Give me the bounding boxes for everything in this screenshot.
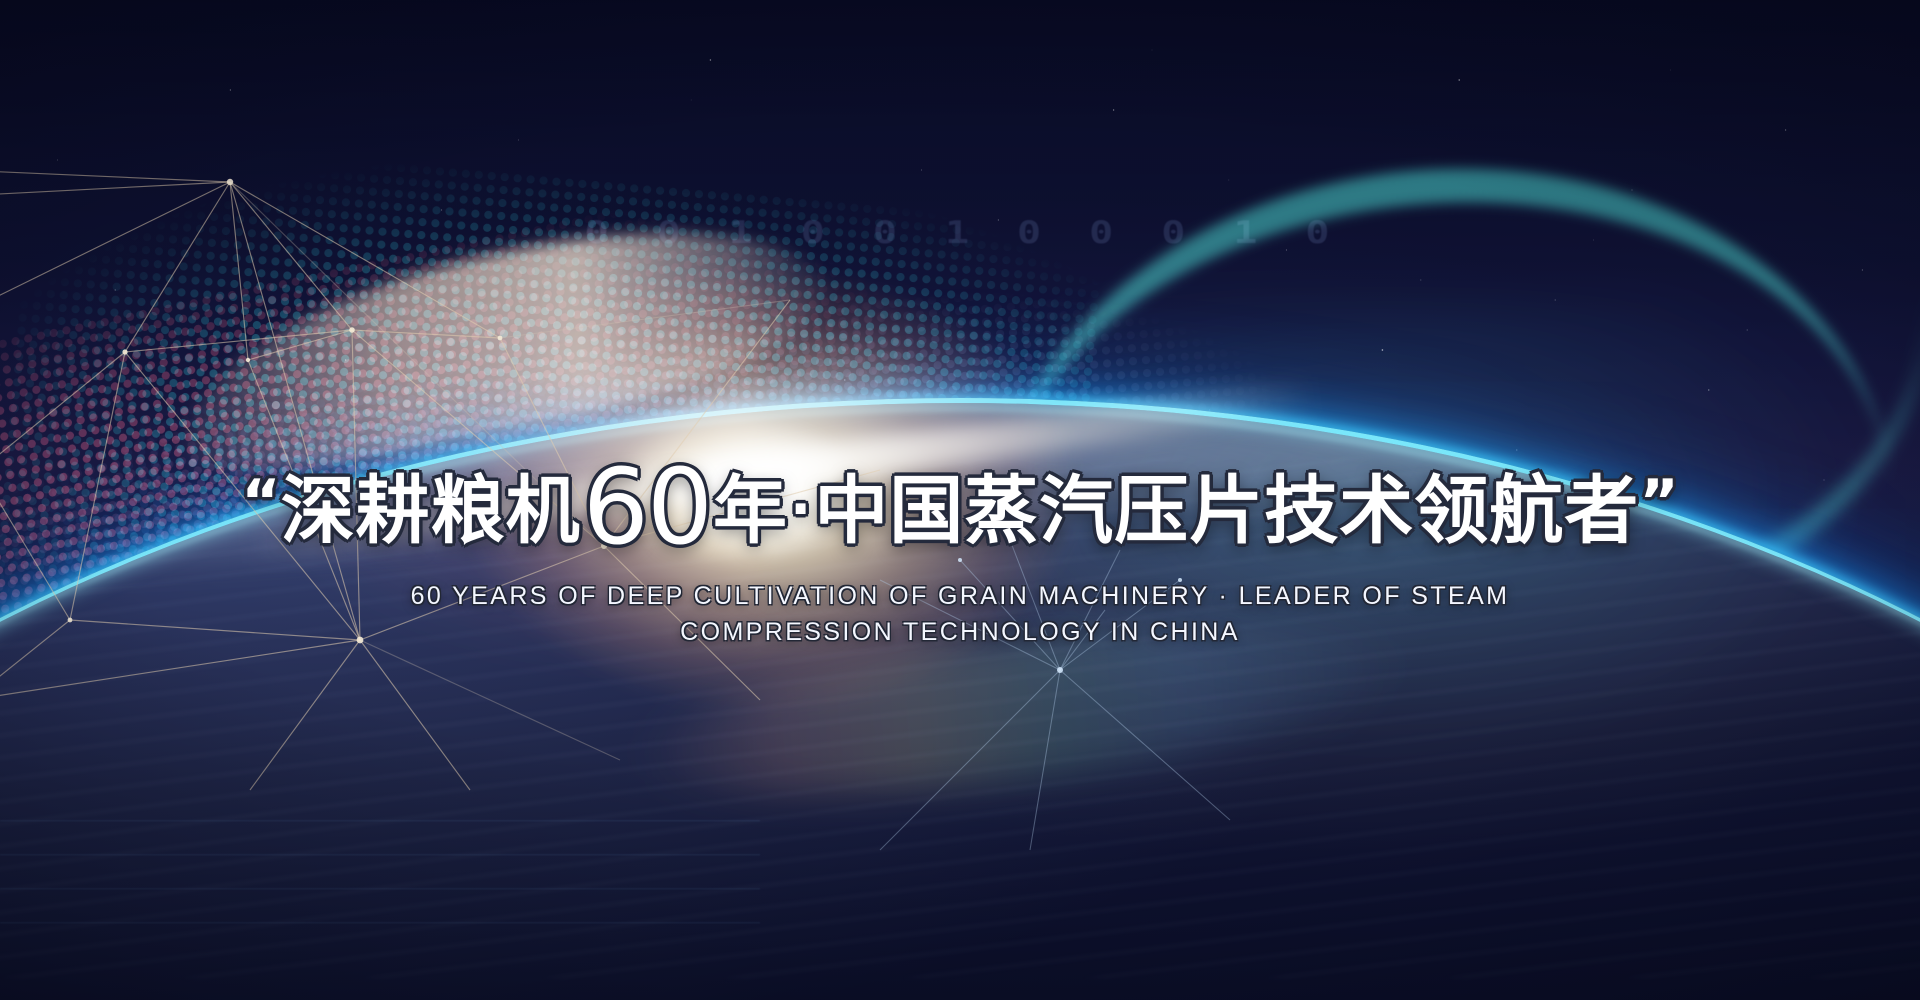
banner-copy-block: “深耕粮机60年·中国蒸汽压片技术领航者” 60 YEARS OF DEEP C…: [0, 455, 1920, 650]
hero-banner: 0 0 1 0 0 1 0 0 0 1 0: [0, 0, 1920, 1000]
open-quote: “: [241, 467, 280, 537]
subtitle-line-2: COMPRESSION TECHNOLOGY IN CHINA: [0, 615, 1920, 651]
close-quote: ”: [1639, 467, 1678, 537]
banner-headline: “深耕粮机60年·中国蒸汽压片技术领航者”: [0, 455, 1920, 559]
headline-part-3: 中国蒸汽压片技术领航者: [814, 468, 1639, 554]
banner-subtitle: 60 YEARS OF DEEP CULTIVATION OF GRAIN MA…: [0, 579, 1920, 650]
headline-part-2: 年: [713, 468, 788, 554]
headline-part-1: 深耕粮机: [281, 468, 581, 554]
headline-number-60: 60: [583, 446, 711, 568]
headline-separator: ·: [790, 477, 812, 542]
subtitle-line-1: 60 YEARS OF DEEP CULTIVATION OF GRAIN MA…: [0, 579, 1920, 615]
